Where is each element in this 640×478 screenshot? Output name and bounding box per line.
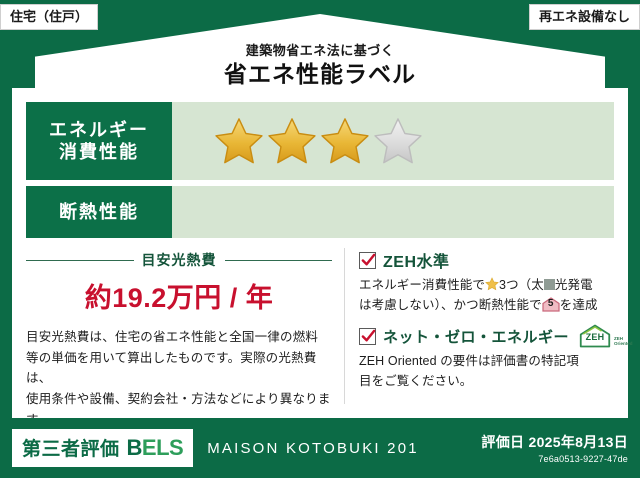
- zeh-standard-body: エネルギー消費性能で3つ（太光発電 は考慮しない）、かつ断熱性能で5を達成: [359, 275, 633, 315]
- building-name: MAISON KOTOBUKI 201: [207, 440, 419, 457]
- energy-label-line1: エネルギー: [49, 119, 149, 142]
- badge-building-type: 住宅（住戸）: [0, 4, 98, 30]
- star-icon-filled: [214, 116, 264, 166]
- badge-renewable-equipment: 再エネ設備なし: [529, 4, 640, 30]
- evaluation-id: 7e6a0513-9227-47de: [481, 454, 628, 464]
- insulation-performance-row: 断熱性能: [26, 186, 614, 238]
- roof-shape: 建築物省エネ法に基づく 省エネ性能ラベル: [35, 14, 605, 95]
- lower-content: 目安光熱費 約19.2万円 / 年 目安光熱費は、住宅の省エネ性能と全国一律の燃…: [26, 248, 614, 404]
- header-subtitle: 建築物省エネ法に基づく: [35, 44, 605, 58]
- redacted-character: [544, 279, 555, 290]
- insulation-label-line1: 断熱性能: [59, 201, 139, 224]
- utility-cost-heading: 目安光熱費: [26, 250, 332, 270]
- label-header: 建築物省エネ法に基づく 省エネ性能ラベル 住宅（住戸） 再エネ設備なし: [0, 0, 640, 95]
- evaluation-info: 評価日 2025年8月13日 7e6a0513-9227-47de: [481, 432, 628, 464]
- zeh-standard-body-a: エネルギー消費性能で: [359, 278, 485, 292]
- zeh-logo-sub-line2: Oriented: [614, 341, 633, 346]
- net-zero-body-line1: ZEH Oriented の要件は評価書の特記項: [359, 354, 579, 368]
- zeh-standard-body-e: を達成: [560, 298, 598, 312]
- energy-performance-value: [172, 102, 614, 180]
- utility-cost-heading-text: 目安光熱費: [142, 250, 217, 270]
- star-icon-filled: [267, 116, 317, 166]
- evaluation-date: 評価日 2025年8月13日: [481, 432, 628, 452]
- star-icon-empty: [373, 116, 423, 166]
- zeh-standard-title: ZEH水準: [383, 248, 450, 272]
- heading-rule-right: [225, 260, 333, 261]
- heading-rule-left: [26, 260, 134, 261]
- star-icon-inline: [485, 277, 499, 291]
- bels-logo: 第三者評価 BELS: [12, 429, 193, 467]
- utility-cost-note: 目安光熱費は、住宅の省エネ性能と全国一律の燃料 等の単価を用いて算出したものです…: [26, 327, 332, 430]
- zeh-section: ZEH水準 エネルギー消費性能で3つ（太光発電 は考慮しない）、かつ断熱性能で5…: [344, 248, 633, 404]
- zeh-logo-text: ZEH: [578, 332, 612, 342]
- bels-letters-els: ELS: [142, 435, 183, 460]
- zeh-house-icon: ZEH: [578, 324, 612, 348]
- main-panel: エネルギー 消費性能 断熱性能 目安光熱費: [12, 88, 628, 418]
- energy-performance-row: エネルギー 消費性能: [26, 102, 614, 180]
- utility-cost-note-line2: 等の単価を用いて算出したものです。実際の光熱費は、: [26, 351, 316, 386]
- bels-letter-b: B: [127, 435, 142, 460]
- zeh-standard-body-b: 3つ（太: [499, 278, 544, 292]
- star-rating: [214, 116, 423, 166]
- utility-cost-note-line1: 目安光熱費は、住宅の省エネ性能と全国一律の燃料: [26, 330, 318, 344]
- utility-cost-section: 目安光熱費 約19.2万円 / 年 目安光熱費は、住宅の省エネ性能と全国一律の燃…: [26, 248, 344, 404]
- zeh-standard-body-d: は考慮しない）、かつ断熱性能で: [359, 298, 542, 312]
- zeh-logo-subtext: ZEH Oriented: [614, 336, 633, 348]
- energy-performance-label: 建築物省エネ法に基づく 省エネ性能ラベル 住宅（住戸） 再エネ設備なし エネルギ…: [0, 0, 640, 478]
- page-title: 省エネ性能ラベル: [35, 62, 605, 87]
- zeh-logo: ZEH ZEH Oriented: [578, 324, 633, 348]
- insulation-performance-label: 断熱性能: [26, 186, 172, 238]
- net-zero-body: ZEH Oriented の要件は評価書の特記項 目をご覧ください。: [359, 351, 633, 391]
- star-icon-filled: [320, 116, 370, 166]
- house-icon-inline-level: 5: [542, 296, 560, 312]
- zeh-standard-heading: ZEH水準: [359, 248, 633, 272]
- insulation-performance-value: [172, 186, 614, 238]
- house-icon-inline: 5: [542, 297, 560, 312]
- energy-performance-label: エネルギー 消費性能: [26, 102, 172, 180]
- net-zero-heading: ネット・ゼロ・エネルギー ZEH ZEH Oriented: [359, 324, 633, 348]
- zeh-standard-body-c: 光発電: [555, 278, 593, 292]
- utility-cost-value: 約19.2万円 / 年: [26, 276, 332, 315]
- energy-label-line2: 消費性能: [59, 141, 139, 164]
- net-zero-body-line2: 目をご覧ください。: [359, 374, 472, 388]
- bels-jp-text: 第三者評価: [22, 434, 120, 461]
- checkmark-icon-2: [359, 328, 376, 345]
- net-zero-title: ネット・ゼロ・エネルギー: [383, 326, 569, 347]
- checkmark-icon: [359, 252, 376, 269]
- label-footer: 第三者評価 BELS MAISON KOTOBUKI 201 評価日 2025年…: [0, 418, 640, 478]
- bels-en-text: BELS: [127, 435, 184, 461]
